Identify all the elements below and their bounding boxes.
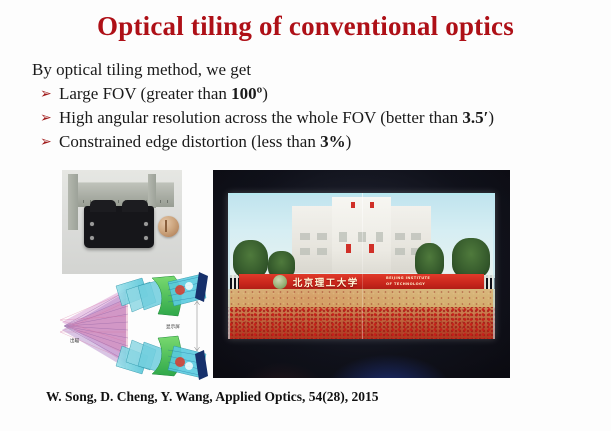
arrow-bullet-icon: ➢: [40, 86, 59, 103]
raytrace-dimension-label: 显示屏: [166, 324, 180, 330]
slide-canvas: Optical tiling of conventional optics By…: [0, 0, 611, 431]
banner-chinese-text: 北京理工大学: [293, 275, 359, 289]
bullet-item-distortion: ➢ Constrained edge distortion (less than…: [40, 132, 494, 152]
tile-left-edge: [228, 193, 230, 339]
tree-icon: [233, 240, 268, 278]
window-icon: [300, 233, 310, 240]
dimension-annotation: [195, 301, 200, 351]
prototype-photo: [62, 170, 182, 274]
bullet-value: 3%: [320, 132, 346, 151]
caliper-jaw-left: [68, 174, 78, 230]
tile-seam: [362, 193, 363, 339]
citation-text: W. Song, D. Cheng, Y. Wang, Applied Opti…: [46, 389, 378, 405]
bullet-prefix: Large FOV (greater than: [59, 84, 231, 103]
raytrace-pupil-label: 出瞄: [70, 337, 80, 344]
bullet-item-resolution: ➢ High angular resolution across the who…: [40, 108, 494, 128]
warm-glow: [237, 362, 326, 378]
bullet-prefix: High angular resolution across the whole…: [59, 108, 462, 127]
bullet-item-fov: ➢ Large FOV (greater than 100º): [40, 84, 494, 104]
prototype-optic-part: [84, 206, 154, 248]
pupil-ray-fan: [60, 288, 128, 368]
screw-icon: [90, 236, 94, 240]
window-icon: [339, 232, 347, 242]
tiled-image: 北京理工大学 BEIJING INSTITUTE OF TECHNOLOGY: [228, 193, 495, 339]
bullet-text-fov: Large FOV (greater than 100º): [59, 84, 268, 104]
bullet-value: 3.5′: [462, 108, 488, 127]
screw-icon: [144, 222, 148, 226]
caliper-jaw-right: [148, 174, 156, 208]
bullet-suffix: ): [262, 84, 268, 103]
raytrace-diagram: 显示屏 出瞄: [56, 272, 208, 380]
raytrace-svg: 显示屏 出瞄: [56, 272, 208, 380]
banner-english-text: BEIJING INSTITUTE OF TECHNOLOGY: [386, 276, 430, 286]
window-icon: [395, 248, 405, 255]
window-icon: [411, 233, 421, 240]
tree-icon: [452, 238, 489, 277]
bullet-prefix: Constrained edge distortion (less than: [59, 132, 320, 151]
red-flag-icon: [370, 202, 374, 208]
blue-glow: [326, 354, 451, 378]
slide-title: Optical tiling of conventional optics: [0, 11, 611, 42]
red-flag-icon: [369, 244, 374, 253]
banner-en-line1: BEIJING INSTITUTE: [386, 276, 430, 280]
bullet-list: ➢ Large FOV (greater than 100º) ➢ High a…: [40, 84, 494, 156]
window-icon: [300, 248, 310, 255]
banner-en-line2: OF TECHNOLOGY: [386, 282, 425, 286]
bullet-suffix: ): [488, 108, 494, 127]
window-icon: [395, 233, 405, 240]
tree-icon: [415, 243, 444, 278]
arrow-bullet-icon: ➢: [40, 134, 59, 151]
display-photo-panel: 北京理工大学 BEIJING INSTITUTE OF TECHNOLOGY: [213, 170, 510, 378]
red-flag-icon: [351, 202, 355, 208]
intro-text: By optical tiling method, we get: [32, 60, 251, 80]
screw-icon: [144, 236, 148, 240]
tile-right-edge: [493, 193, 495, 339]
bullet-text-distortion: Constrained edge distortion (less than 3…: [59, 132, 351, 152]
bullet-text-resolution: High angular resolution across the whole…: [59, 108, 494, 128]
bullet-value: 100º: [231, 84, 262, 103]
red-flag-icon: [346, 244, 351, 253]
window-icon: [317, 248, 327, 255]
arrow-bullet-icon: ➢: [40, 110, 59, 127]
screw-icon: [90, 222, 94, 226]
window-icon: [317, 233, 327, 240]
window-icon: [376, 232, 384, 242]
university-emblem-icon: [273, 275, 287, 289]
coin-scale-reference: [158, 216, 179, 237]
bullet-suffix: ): [346, 132, 352, 151]
